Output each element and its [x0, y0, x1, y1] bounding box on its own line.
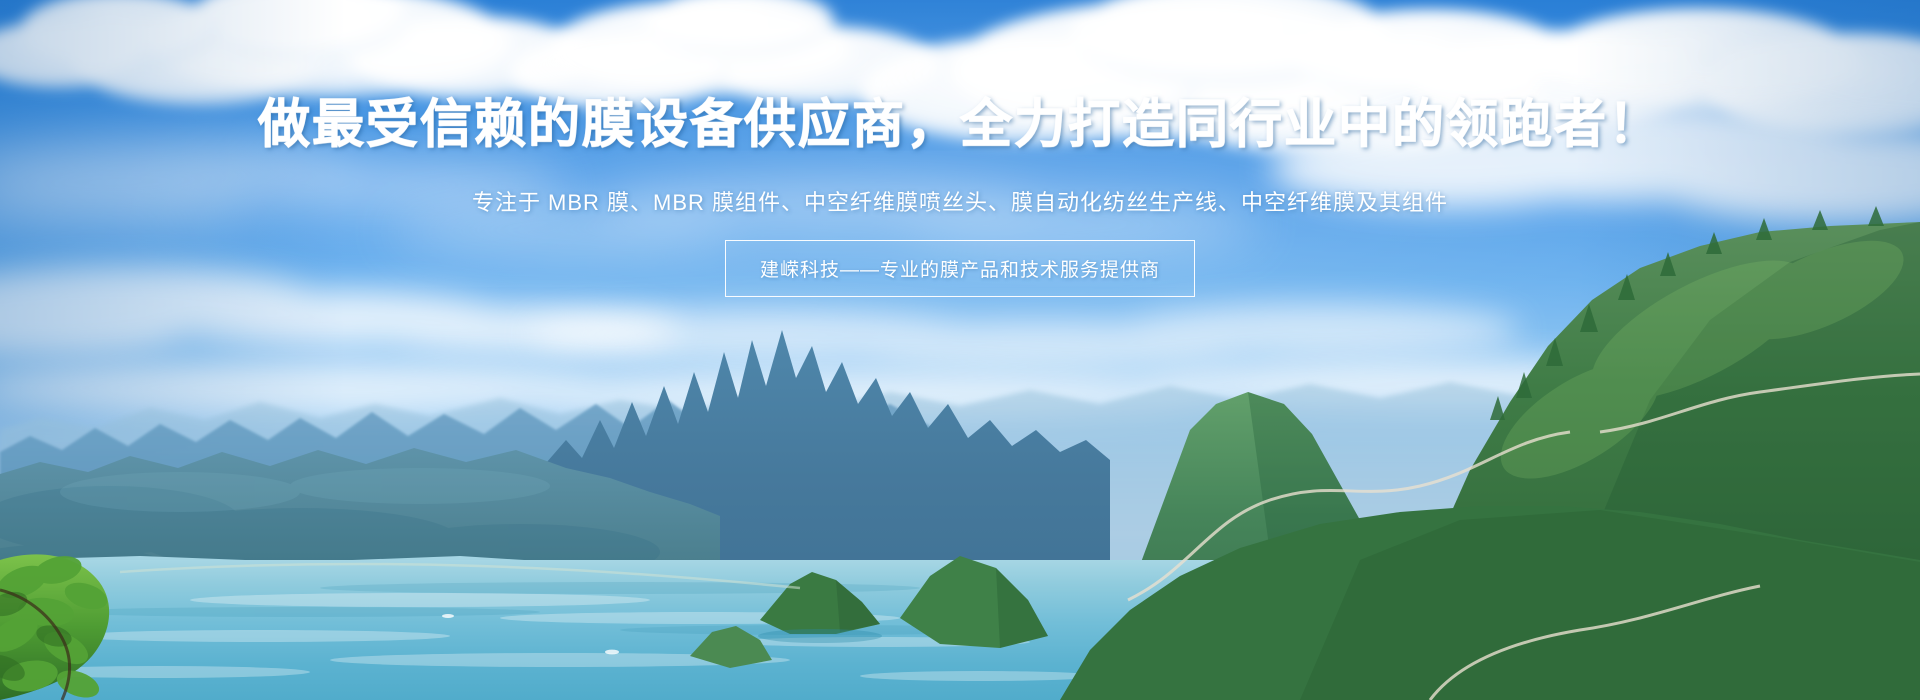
banner-tagline-wrapper: 建嵘科技——专业的膜产品和技术服务提供商 — [0, 240, 1920, 297]
banner-tagline-box: 建嵘科技——专业的膜产品和技术服务提供商 — [725, 240, 1195, 297]
banner-subtitle: 专注于 MBR 膜、MBR 膜组件、中空纤维膜喷丝头、膜自动化纺丝生产线、中空纤… — [0, 188, 1920, 218]
banner-headline: 做最受信赖的膜设备供应商，全力打造同行业中的领跑者！ — [0, 96, 1920, 154]
hero-banner: 做最受信赖的膜设备供应商，全力打造同行业中的领跑者！ 专注于 MBR 膜、MBR… — [0, 0, 1920, 700]
text-overlay: 做最受信赖的膜设备供应商，全力打造同行业中的领跑者！ 专注于 MBR 膜、MBR… — [0, 0, 1920, 700]
